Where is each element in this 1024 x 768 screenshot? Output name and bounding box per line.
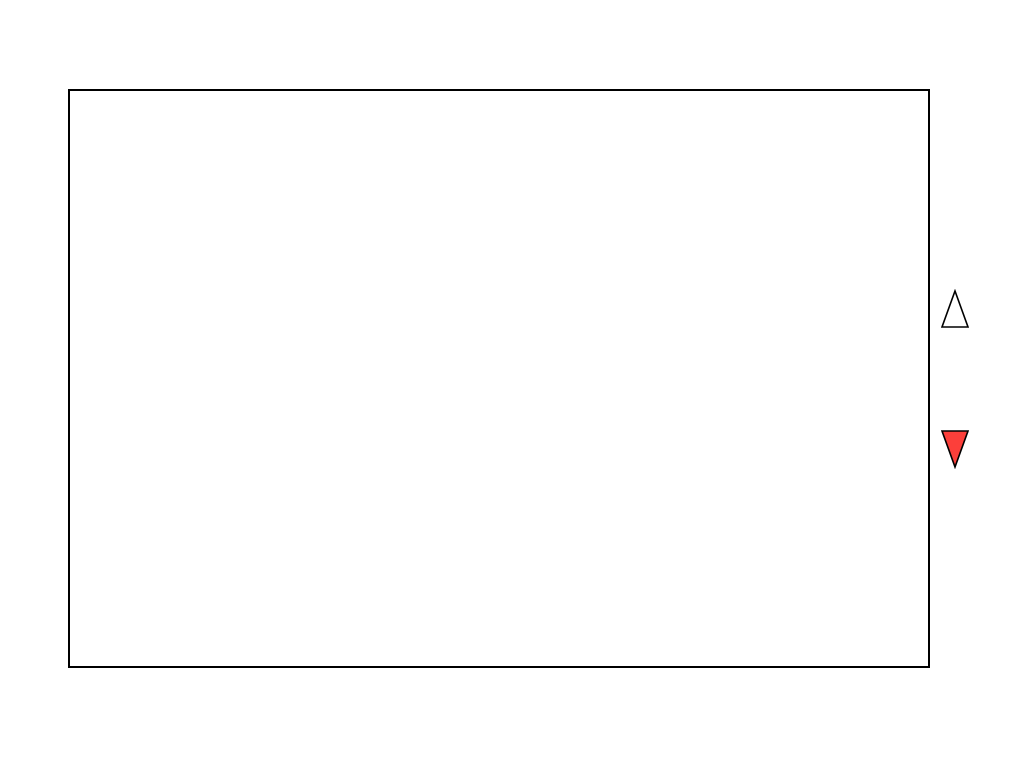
terrain-band [70,91,928,666]
x-axis-title [0,730,1024,756]
colorbar-body [941,327,969,431]
chart-page [0,0,1024,768]
chart-title [0,52,1024,76]
plot-area [68,89,930,668]
colorbar [941,289,969,469]
